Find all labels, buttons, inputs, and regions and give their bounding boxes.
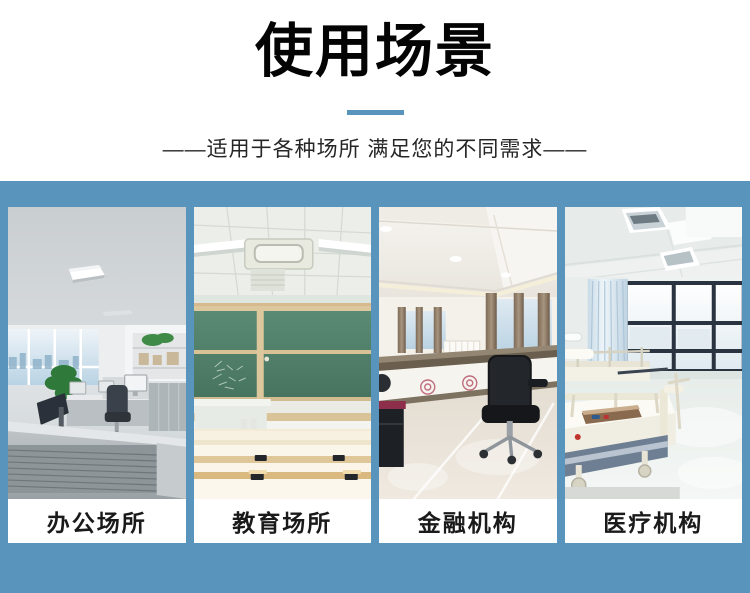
hospital-photo (565, 207, 743, 499)
bank-photo (379, 207, 557, 499)
scenario-label-office: 办公场所 (8, 499, 186, 543)
page-subtitle: ——适用于各种场所 满足您的不同需求—— (0, 135, 750, 165)
office-photo (8, 207, 186, 499)
header-section: 使用场景 ——适用于各种场所 满足您的不同需求—— (0, 0, 750, 181)
promo-banner-page: 使用场景 ——适用于各种场所 满足您的不同需求—— (0, 0, 750, 593)
scenario-card-education[interactable]: 教育场所 (194, 207, 372, 543)
scenario-label-finance: 金融机构 (379, 499, 557, 543)
classroom-photo (194, 207, 372, 499)
scenarios-band: 办公场所 (0, 181, 750, 593)
scenario-card-office[interactable]: 办公场所 (8, 207, 186, 543)
scenario-card-list: 办公场所 (8, 207, 742, 543)
scenario-label-medical: 医疗机构 (565, 499, 743, 543)
scenario-card-medical[interactable]: 医疗机构 (565, 207, 743, 543)
scenario-label-education: 教育场所 (194, 499, 372, 543)
accent-divider-bar (347, 110, 404, 115)
page-title: 使用场景 (0, 19, 750, 85)
scenario-card-finance[interactable]: 金融机构 (379, 207, 557, 543)
